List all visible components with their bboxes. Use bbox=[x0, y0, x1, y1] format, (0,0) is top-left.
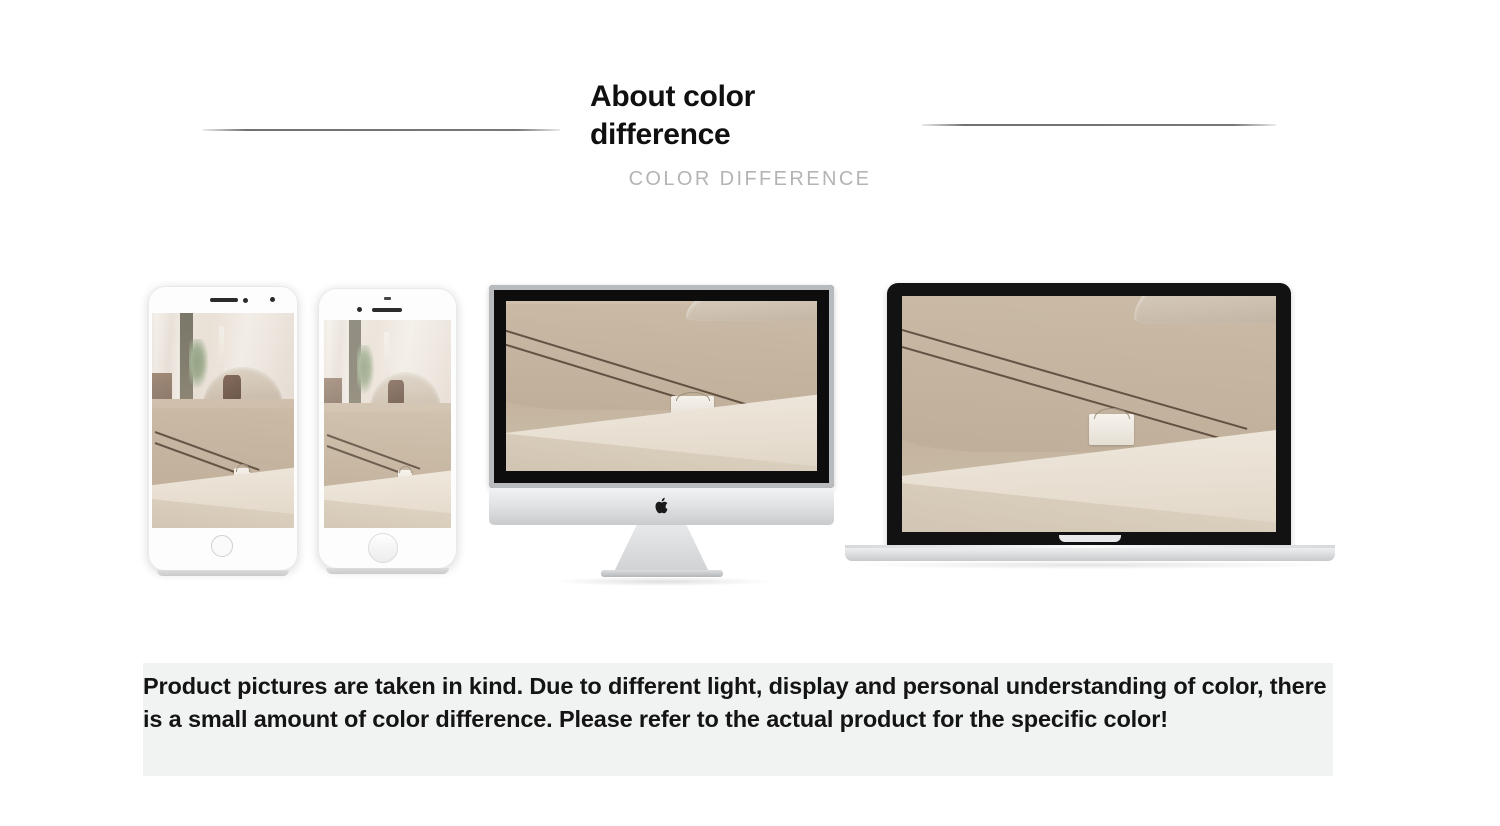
page-subtitle: COLOR DIFFERENCE bbox=[560, 168, 940, 191]
phone-bottom-edge bbox=[326, 568, 448, 574]
laptop-lid-notch bbox=[1059, 535, 1121, 542]
laptop-shadow bbox=[855, 561, 1325, 569]
phone-bottom-edge bbox=[157, 570, 289, 576]
monitor-shadow bbox=[554, 577, 769, 586]
header-divider-left bbox=[203, 129, 560, 131]
phone-front-camera-icon bbox=[357, 307, 362, 312]
page-title: About colordifference bbox=[590, 78, 920, 153]
monitor-screen-image bbox=[506, 301, 817, 471]
apple-logo-icon bbox=[653, 496, 670, 516]
disclaimer-text: Product pictures are taken in kind. Due … bbox=[143, 670, 1343, 737]
phone-home-button[interactable] bbox=[211, 535, 233, 557]
phone-top-mic-icon bbox=[384, 297, 391, 300]
color-difference-banner: About colordifference COLOR DIFFERENCE bbox=[0, 0, 1500, 826]
phone-front-camera-icon bbox=[270, 297, 275, 302]
device-laptop bbox=[845, 283, 1335, 583]
phone-large-screen-image bbox=[152, 313, 294, 528]
phone-sensor-dot bbox=[243, 298, 248, 303]
device-showcase bbox=[0, 255, 1500, 595]
header-divider-right bbox=[922, 124, 1276, 126]
phone-home-button[interactable] bbox=[368, 533, 398, 563]
device-desktop-monitor bbox=[489, 285, 834, 575]
laptop-screen-image bbox=[902, 296, 1276, 532]
device-phone-small bbox=[318, 288, 457, 569]
phone-earpiece-speaker bbox=[210, 298, 238, 302]
monitor-stand-base bbox=[601, 570, 723, 577]
phone-small-screen-image bbox=[324, 320, 451, 528]
phone-earpiece-speaker bbox=[372, 308, 402, 312]
device-phone-large bbox=[148, 286, 298, 571]
laptop-base bbox=[845, 545, 1335, 561]
monitor-stand-neck bbox=[614, 525, 710, 573]
